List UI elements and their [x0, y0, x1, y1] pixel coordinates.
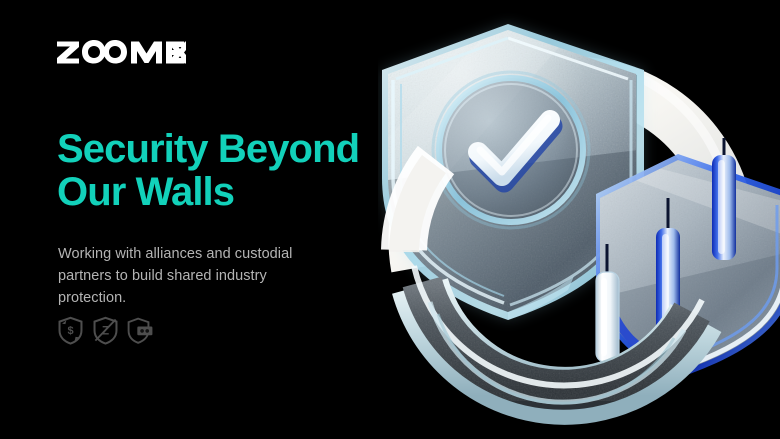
badge-zero-fraud[interactable]: Z	[92, 316, 119, 345]
shield-banknote-icon	[127, 316, 154, 345]
artwork-svg	[378, 0, 780, 439]
verified-check-badge	[433, 72, 589, 228]
svg-text:$: $	[67, 325, 73, 337]
glass-security-shield-illustration	[378, 0, 780, 439]
page-subtitle: Working with alliances and custodial par…	[58, 243, 330, 309]
page-title: Security Beyond Our Walls	[57, 128, 417, 214]
trust-badge-row: $ Z	[57, 316, 154, 345]
badge-fund-safety[interactable]	[127, 316, 154, 345]
shield-dollar-arrows-icon: $	[57, 316, 84, 345]
zoomex-logo[interactable]	[56, 36, 186, 66]
zoomex-wordmark-logo-icon	[56, 38, 186, 64]
promo-banner: Security Beyond Our Walls Working with a…	[0, 0, 780, 439]
shield-z-slash-icon: Z	[92, 316, 119, 345]
badge-refund-protection[interactable]: $	[57, 316, 84, 345]
